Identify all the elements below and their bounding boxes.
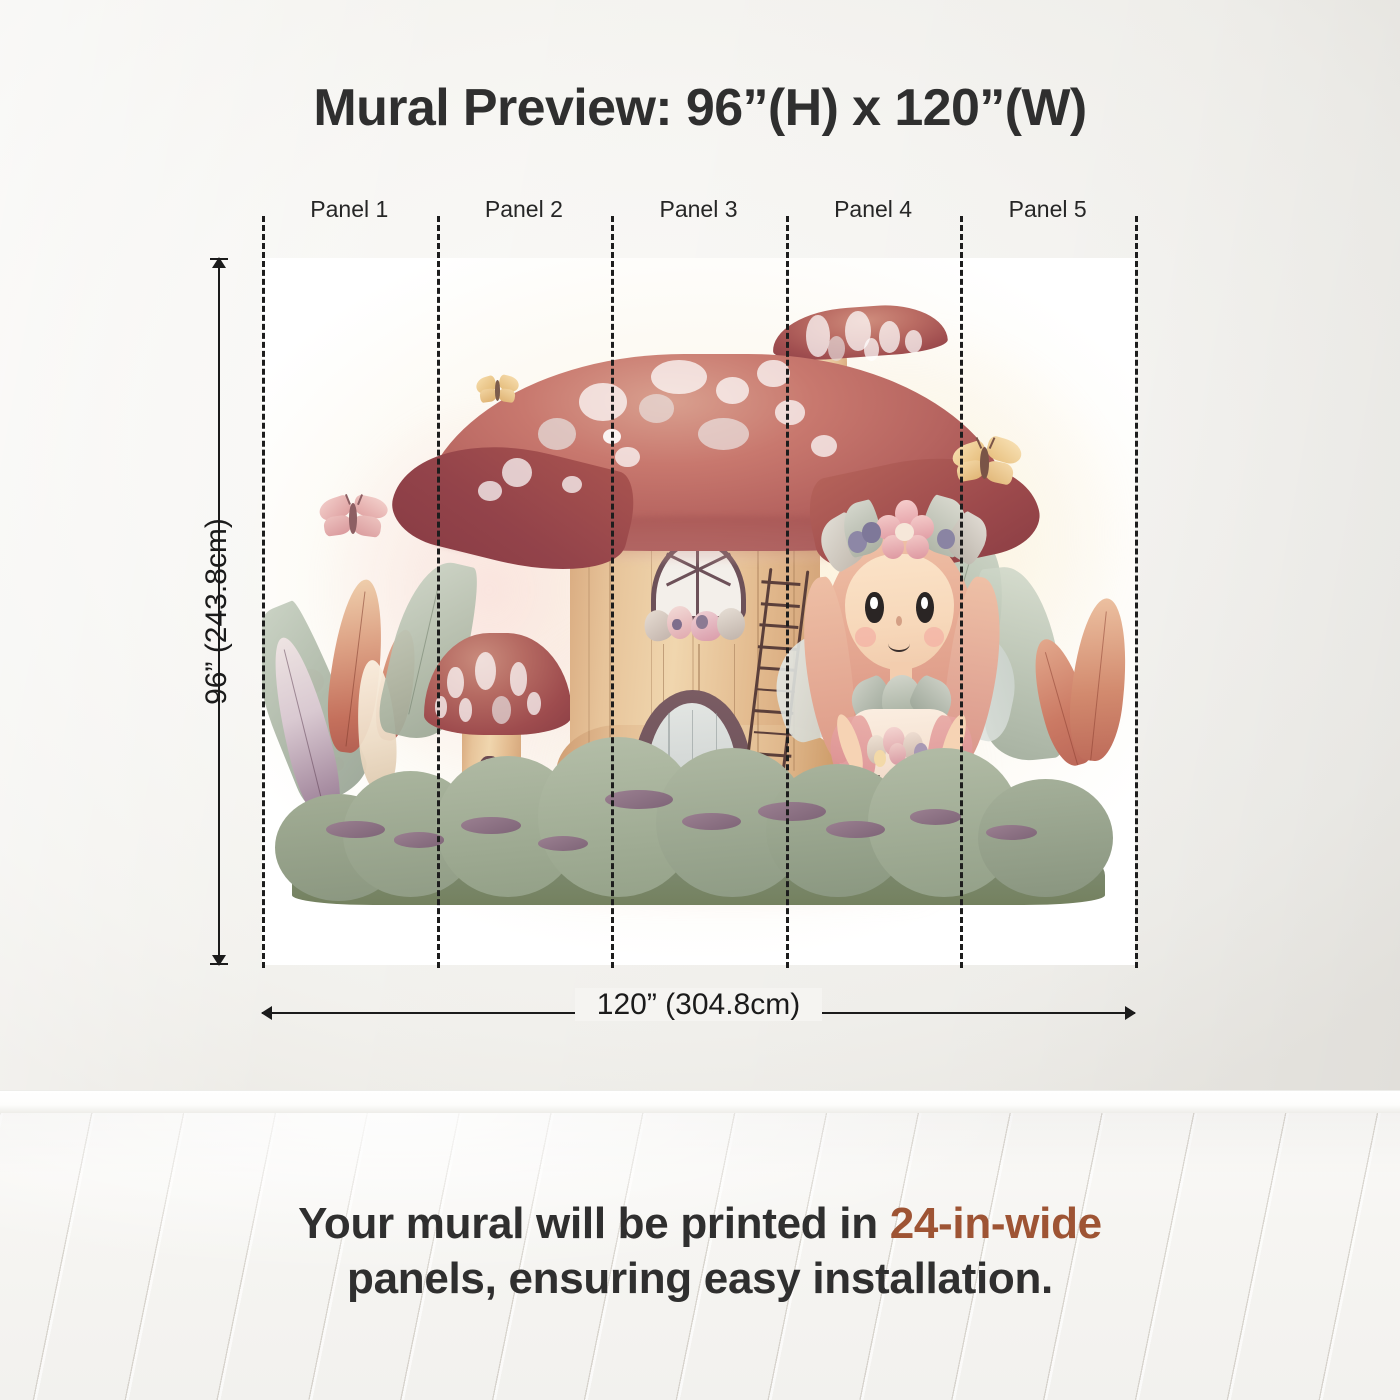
fairy-mouth xyxy=(888,635,910,652)
panel-divider-5 xyxy=(1135,216,1138,968)
yellow-butterfly-small xyxy=(476,371,520,410)
panel-divider-1 xyxy=(437,216,440,968)
width-dimension-label: 120” (304.8cm) xyxy=(262,988,1135,1022)
pink-butterfly xyxy=(319,491,389,548)
panel-divider-4 xyxy=(960,216,963,968)
panel-label-2: Panel 2 xyxy=(485,196,563,223)
stepping-stone xyxy=(758,802,826,821)
panel-divider-3 xyxy=(786,216,789,968)
panel-divider-0 xyxy=(262,216,265,968)
panel-label-4: Panel 4 xyxy=(834,196,912,223)
footer-highlight: 24-in-wide xyxy=(890,1199,1102,1248)
stepping-stone xyxy=(910,809,961,824)
window-flower-box xyxy=(636,603,767,649)
stepping-stone xyxy=(461,817,520,834)
footer-note: Your mural will be printed in 24-in-wide… xyxy=(0,1196,1400,1306)
stepping-stone xyxy=(826,821,885,838)
page-title: Mural Preview: 96”(H) x 120”(W) xyxy=(0,78,1400,138)
panel-label-5: Panel 5 xyxy=(1009,196,1087,223)
fairy-cheek-left xyxy=(855,627,875,646)
panel-label-1: Panel 1 xyxy=(310,196,388,223)
footer-line1-prefix: Your mural will be printed in xyxy=(298,1199,890,1248)
height-dimension-label: 96” (243.8cm) xyxy=(196,258,238,965)
panel-divider-2 xyxy=(611,216,614,968)
green-bushes xyxy=(275,714,1122,905)
mural-artwork xyxy=(262,258,1135,965)
stepping-stone xyxy=(986,825,1037,840)
fairy-cheek-right xyxy=(924,627,944,646)
mural-preview[interactable]: Panel 1 Panel 2 Panel 3 Panel 4 Panel 5 xyxy=(262,258,1135,965)
footer-line2: panels, ensuring easy installation. xyxy=(0,1251,1400,1306)
mural-canvas xyxy=(262,258,1135,965)
width-dimension-text: 120” (304.8cm) xyxy=(575,988,822,1021)
stepping-stone xyxy=(326,821,385,838)
panel-label-3: Panel 3 xyxy=(659,196,737,223)
